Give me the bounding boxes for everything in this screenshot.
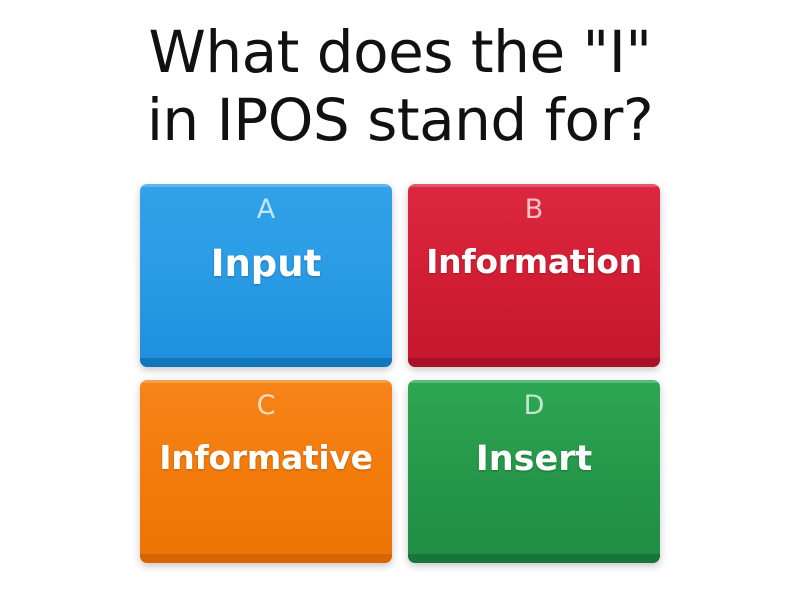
answer-letter-b: B <box>525 196 544 223</box>
question-text: What does the "I" in IPOS stand for? <box>60 18 740 155</box>
card-bottom-lip <box>140 554 392 563</box>
answer-card-c[interactable]: C Informative <box>140 380 392 563</box>
answer-text-c: Informative <box>140 441 392 476</box>
question-area: What does the "I" in IPOS stand for? <box>60 18 740 155</box>
answer-card-a[interactable]: A Input <box>140 184 392 367</box>
answer-letter-a: A <box>257 196 275 223</box>
quiz-screen: What does the "I" in IPOS stand for? A I… <box>0 0 800 600</box>
answer-letter-d: D <box>524 392 545 419</box>
answer-text-d: Insert <box>408 441 660 478</box>
answer-letter-c: C <box>257 392 276 419</box>
answer-text-a: Input <box>140 245 392 284</box>
card-bottom-lip <box>408 554 660 563</box>
answer-options-grid: A Input B Information C Informative D In… <box>140 184 660 566</box>
card-bottom-lip <box>408 358 660 367</box>
answer-card-b[interactable]: B Information <box>408 184 660 367</box>
card-top-highlight <box>410 380 658 383</box>
card-bottom-lip <box>140 358 392 367</box>
card-top-highlight <box>142 380 390 383</box>
card-top-highlight <box>142 184 390 187</box>
card-top-highlight <box>410 184 658 187</box>
answer-card-d[interactable]: D Insert <box>408 380 660 563</box>
answer-text-b: Information <box>408 245 660 280</box>
